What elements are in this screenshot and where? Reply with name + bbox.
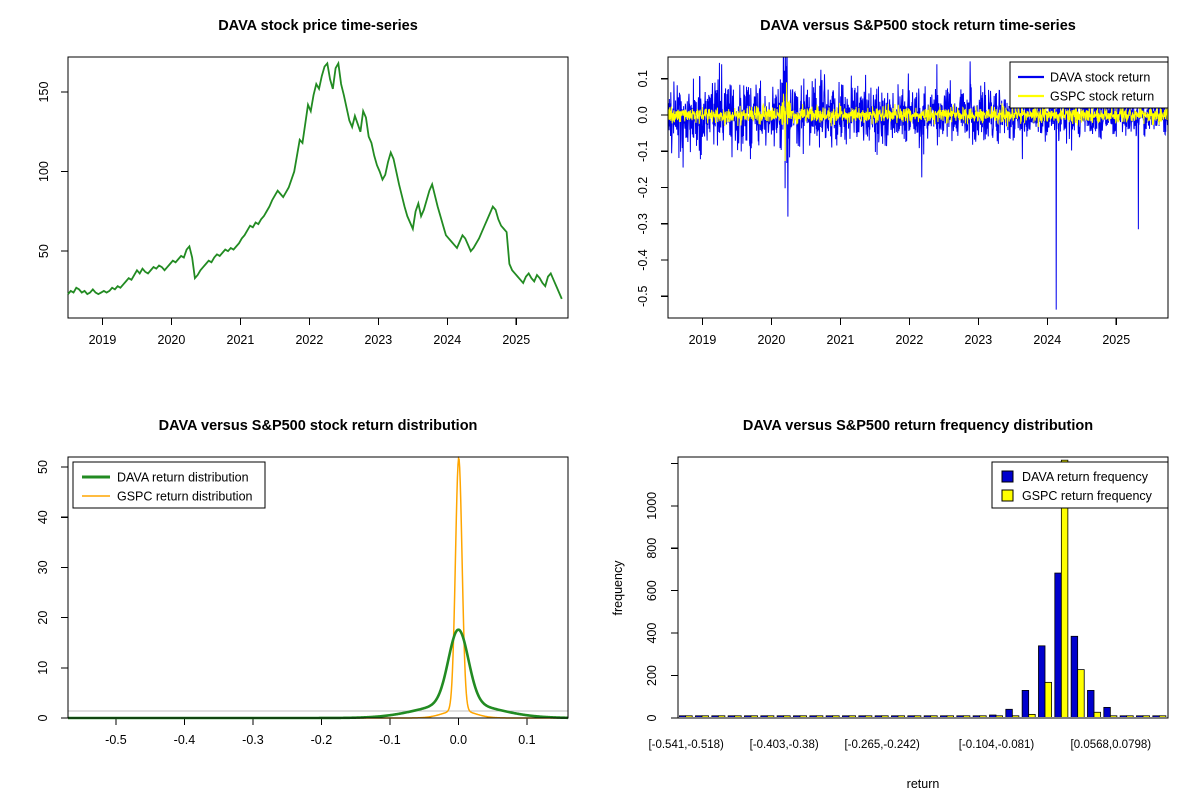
panel-return-time-series: DAVA versus S&P500 stock return time-ser…: [600, 0, 1200, 400]
histogram-bar: [1104, 707, 1111, 718]
price-chart-svg: DAVA stock price time-series 20192020202…: [0, 0, 600, 400]
returns-ytick--0.1: -0.1: [636, 140, 650, 162]
price-ytick-100: 100: [37, 161, 51, 182]
histogram-ytick-600: 600: [645, 580, 659, 601]
histogram-legend-label-0: DAVA return frequency: [1022, 470, 1149, 484]
price-tick-labels: 201920202021202220232024202550100150: [37, 82, 530, 347]
panel-return-frequency: DAVA versus S&P500 return frequency dist…: [600, 400, 1200, 800]
histogram-ytick-400: 400: [645, 623, 659, 644]
histogram-ytick-800: 800: [645, 538, 659, 559]
density-ytick-20: 20: [36, 611, 50, 625]
histogram-legend[interactable]: DAVA return frequencyGSPC return frequen…: [992, 462, 1168, 508]
density-xtick-0.1: 0.1: [518, 733, 535, 747]
price-ytick-150: 150: [37, 82, 51, 103]
dava-price-line: [68, 63, 562, 299]
returns-xtick-2023: 2023: [964, 333, 992, 347]
returns-chart-title: DAVA versus S&P500 stock return time-ser…: [760, 18, 1076, 34]
price-xtick-2022: 2022: [295, 333, 323, 347]
density-ytick-30: 30: [36, 560, 50, 574]
returns-ytick--0.2: -0.2: [636, 177, 650, 199]
density-xtick--0.3: -0.3: [242, 733, 264, 747]
returns-chart-svg: DAVA versus S&P500 stock return time-ser…: [600, 0, 1200, 400]
density-xtick-0.0: 0.0: [450, 733, 467, 747]
histogram-bar: [1055, 573, 1062, 718]
price-xtick-2020: 2020: [158, 333, 186, 347]
returns-xtick-2025: 2025: [1102, 333, 1130, 347]
histogram-bar: [1006, 709, 1013, 718]
returns-xtick-2024: 2024: [1033, 333, 1061, 347]
histogram-legend-swatch-0: [1002, 471, 1013, 482]
price-xtick-2024: 2024: [433, 333, 461, 347]
returns-xtick-2022: 2022: [895, 333, 923, 347]
histogram-xtick-1: [-0.403,-0.38): [750, 739, 819, 751]
density-ytick-10: 10: [36, 661, 50, 675]
returns-ytick--0.3: -0.3: [636, 213, 650, 235]
density-xtick--0.2: -0.2: [311, 733, 333, 747]
density-legend-label-1: GSPC return distribution: [117, 490, 253, 504]
returns-ytick--0.4: -0.4: [636, 249, 650, 271]
histogram-xtick-2: [-0.265,-0.242): [844, 739, 920, 751]
histogram-bar: [1038, 646, 1045, 718]
histogram-bar: [1022, 690, 1029, 718]
histogram-bar: [1071, 636, 1078, 718]
price-ytick-50: 50: [37, 244, 51, 258]
histogram-legend-swatch-1: [1002, 490, 1013, 501]
returns-ytick--0.5: -0.5: [636, 285, 650, 307]
panel-price-time-series: DAVA stock price time-series 20192020202…: [0, 0, 600, 400]
histogram-xtick-0: [-0.541,-0.518): [648, 739, 724, 751]
price-xtick-2023: 2023: [364, 333, 392, 347]
price-xtick-2025: 2025: [502, 333, 530, 347]
density-xtick--0.4: -0.4: [174, 733, 196, 747]
histogram-bar: [1094, 712, 1101, 718]
dava-density-line: [68, 630, 568, 718]
density-ytick-0: 0: [36, 714, 50, 721]
density-xtick--0.1: -0.1: [379, 733, 401, 747]
price-xtick-2019: 2019: [89, 333, 117, 347]
density-xtick--0.5: -0.5: [105, 733, 127, 747]
histogram-ytick-200: 200: [645, 665, 659, 686]
plot-grid: DAVA stock price time-series 20192020202…: [0, 0, 1200, 800]
price-xtick-2021: 2021: [227, 333, 255, 347]
density-chart-svg: DAVA versus S&P500 stock return distribu…: [0, 400, 600, 800]
returns-legend-label-0: DAVA stock return: [1050, 71, 1150, 85]
price-chart-title: DAVA stock price time-series: [218, 18, 418, 34]
histogram-xtick-3: [-0.104,-0.081): [959, 739, 1035, 751]
histogram-legend-label-1: GSPC return frequency: [1022, 489, 1153, 503]
returns-xtick-2020: 2020: [758, 333, 786, 347]
histogram-xlabel: return: [907, 777, 940, 791]
density-legend[interactable]: DAVA return distributionGSPC return dist…: [73, 462, 265, 508]
returns-xtick-2021: 2021: [827, 333, 855, 347]
density-ytick-40: 40: [36, 510, 50, 524]
returns-ytick-0.1: 0.1: [636, 70, 650, 87]
density-chart-title: DAVA versus S&P500 stock return distribu…: [159, 418, 478, 434]
histogram-bar: [1087, 690, 1094, 718]
density-legend-label-0: DAVA return distribution: [117, 471, 249, 485]
histogram-ytick-1000: 1000: [645, 492, 659, 520]
returns-ytick-0.0: 0.0: [636, 106, 650, 123]
histogram-bar: [1045, 682, 1052, 718]
panel-return-distribution: DAVA versus S&P500 stock return distribu…: [0, 400, 600, 800]
histogram-ylabel: frequency: [611, 560, 625, 616]
histogram-xtick-4: [0.0568,0.0798): [1071, 739, 1152, 751]
returns-legend[interactable]: DAVA stock returnGSPC stock return: [1010, 62, 1168, 108]
returns-legend-label-1: GSPC stock return: [1050, 90, 1154, 104]
histogram-chart-title: DAVA versus S&P500 return frequency dist…: [743, 418, 1093, 434]
density-ytick-50: 50: [36, 460, 50, 474]
histogram-ytick-0: 0: [645, 714, 659, 721]
histogram-bar: [1078, 670, 1085, 718]
price-plot-box: [68, 57, 568, 318]
histogram-chart-svg: DAVA versus S&P500 return frequency dist…: [600, 400, 1200, 800]
returns-xtick-2019: 2019: [689, 333, 717, 347]
